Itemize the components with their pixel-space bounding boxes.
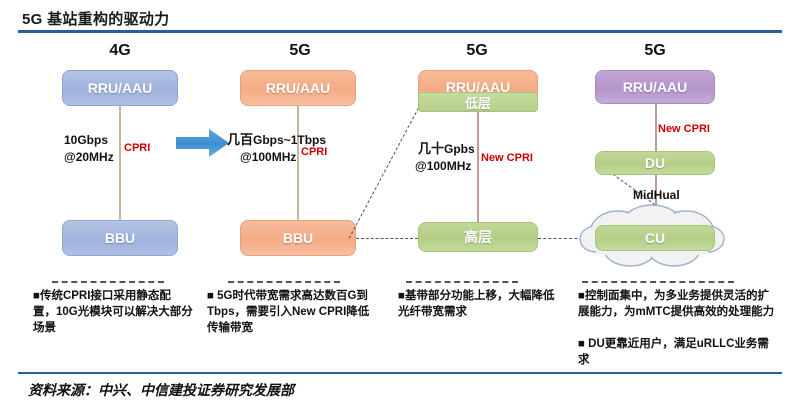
label-5g-rate-line1: Gbps~1Tbps xyxy=(253,133,326,147)
bullet-text-4b: ■ DU更靠近用户，满足uRLLC业务需求 xyxy=(578,336,778,368)
label-4g-rate-line2: @20MHz xyxy=(64,150,114,165)
link-5g-low-high xyxy=(477,108,479,222)
node-cu[interactable]: CU xyxy=(595,225,715,251)
node-cudu-rru-aau[interactable]: RRU/AAU xyxy=(595,70,715,104)
label-5g-split-rate-cn: 几十 xyxy=(418,141,444,156)
bullet-text-4a: ■控制面集中，为多业务提供灵活的扩展能力，为mMTC提供高效的处理能力 xyxy=(578,288,778,320)
node-5g-low-layer[interactable]: 低层 xyxy=(418,92,538,112)
title-divider xyxy=(18,30,782,33)
bullet-divider-4 xyxy=(582,281,734,283)
label-4g-rate-line1: 10Gbps xyxy=(64,133,108,148)
node-4g-bbu[interactable]: BBU xyxy=(62,220,178,256)
label-cudu-interface: New CPRI xyxy=(658,123,710,135)
footer-divider xyxy=(18,372,782,374)
node-du[interactable]: DU xyxy=(595,151,715,175)
bullet-text-2: ■ 5G时代带宽需求高达数百G到Tbps，需要引入New CPRI降低传输带宽 xyxy=(207,288,372,336)
label-5g-interface: CPRI xyxy=(301,146,327,158)
link-4g-rru-bbu xyxy=(119,104,121,222)
dash-link-lowlayer-diagonal xyxy=(349,108,419,239)
link-rru-to-du xyxy=(655,104,657,152)
column-heading-4g: 4G xyxy=(60,42,180,60)
node-5g-high-layer[interactable]: 高层 xyxy=(418,222,538,252)
dash-link-bbu-to-highlayer xyxy=(356,238,418,239)
column-heading-5g-cudu: 5G xyxy=(595,42,715,60)
node-5g-bbu[interactable]: BBU xyxy=(240,220,356,256)
label-5g-rate-line2: @100MHz xyxy=(240,150,296,165)
bullet-divider-1 xyxy=(52,281,164,283)
evolution-arrow xyxy=(176,128,230,158)
column-heading-5g-split: 5G xyxy=(417,42,537,60)
page-title: 5G 基站重构的驱动力 xyxy=(22,8,169,29)
bullet-text-3: ■基带部分功能上移，大幅降低光纤带宽需求 xyxy=(398,288,558,320)
label-5g-rate-cn: 几百 xyxy=(227,132,253,147)
link-5g-rru-bbu xyxy=(297,104,299,222)
label-5g-split-interface: New CPRI xyxy=(481,152,533,164)
column-heading-5g-cpri: 5G xyxy=(240,42,360,60)
bullet-text-1: ■传统CPRI接口采用静态配置，10G光模块可以解决大部分场景 xyxy=(33,288,193,336)
bullet-divider-2 xyxy=(228,281,340,283)
slide-root: 5G 基站重构的驱动力 4G 5G 5G 5G RRU/AAU BBU 10Gb… xyxy=(0,0,800,403)
label-5g-split-rate-row1: 几十Gpbs xyxy=(418,141,475,157)
label-4g-interface: CPRI xyxy=(124,142,150,154)
node-4g-rru-aau[interactable]: RRU/AAU xyxy=(62,70,178,106)
source-note: 资料来源：中兴、中信建投证券研究发展部 xyxy=(28,380,294,400)
label-midhaul: MidHual xyxy=(633,188,680,203)
label-5g-split-rate-line2: @100MHz xyxy=(415,159,471,174)
bullet-divider-3 xyxy=(406,281,518,283)
label-5g-split-rate-line1: Gpbs xyxy=(444,142,475,156)
node-5g-rru-aau[interactable]: RRU/AAU xyxy=(240,70,356,106)
